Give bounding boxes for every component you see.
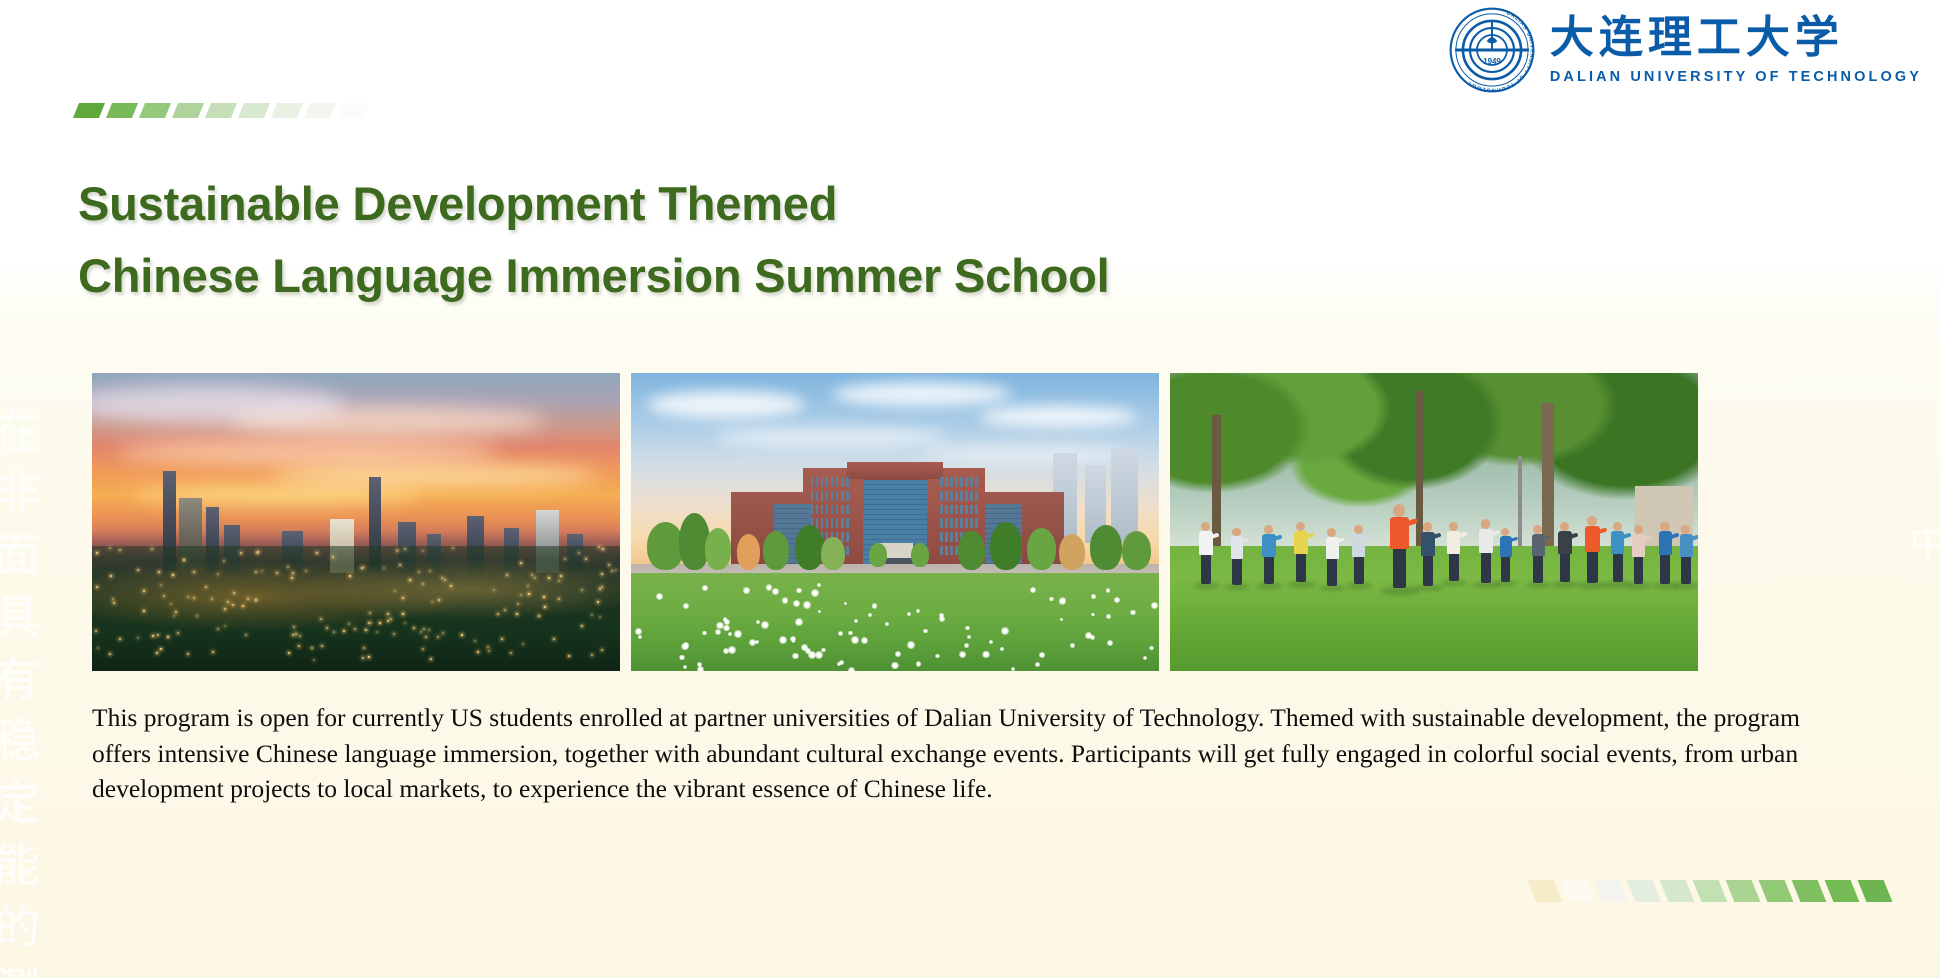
building-window	[955, 505, 958, 515]
city-light	[520, 562, 522, 564]
building-window	[811, 477, 814, 487]
dandelion	[982, 651, 990, 659]
head	[1587, 516, 1597, 526]
city-light	[333, 631, 335, 633]
building-window	[955, 532, 958, 542]
dandelion	[965, 626, 970, 631]
building-window	[945, 477, 948, 487]
shadow	[1346, 583, 1372, 589]
building-window	[816, 505, 819, 515]
building-window	[955, 491, 958, 501]
tree	[1059, 534, 1085, 570]
building-window	[836, 518, 839, 528]
city-light	[441, 577, 443, 579]
building-window	[970, 518, 973, 528]
svg-text:1949: 1949	[1483, 57, 1501, 66]
building-window	[965, 518, 968, 528]
dandelion	[861, 637, 868, 644]
city-light	[96, 586, 98, 588]
logo-name-en: DALIAN UNIVERSITY OF TECHNOLOGY	[1550, 69, 1922, 85]
building-window	[960, 505, 963, 515]
city-light	[450, 585, 452, 587]
building-window	[826, 518, 829, 528]
building-window	[960, 477, 963, 487]
city-light	[413, 627, 415, 629]
shadow	[1320, 585, 1346, 591]
city-light	[418, 571, 420, 573]
building-window	[816, 491, 819, 501]
legs	[1501, 556, 1510, 582]
dandelion	[989, 640, 993, 644]
city-light	[187, 653, 189, 655]
left-edge-watermark: 在非面具有稳定能的测	[0, 400, 64, 978]
tree	[705, 528, 731, 570]
city-light	[233, 592, 235, 594]
building-window	[975, 518, 978, 528]
dandelion	[967, 635, 971, 639]
photo-dut-campus-main-building	[631, 373, 1159, 671]
city-light	[137, 637, 139, 639]
building-window	[970, 477, 973, 487]
decor-parallelogram-bottom-10	[1858, 880, 1893, 902]
city-light	[240, 552, 242, 554]
city-light	[137, 569, 139, 571]
dandelion	[916, 661, 921, 666]
tree	[763, 531, 789, 570]
logo-name-cn: 大连理工大学	[1550, 15, 1844, 61]
tree	[1027, 528, 1056, 570]
tree	[1090, 525, 1122, 570]
dandelion	[839, 660, 844, 665]
head	[1634, 525, 1643, 534]
dandelion	[848, 667, 855, 671]
legs	[1660, 554, 1670, 583]
city-light	[396, 550, 398, 552]
building-window	[975, 491, 978, 501]
presentation-slide: 在非面具有稳定能的测 中 1949 DALIAN UNIVERSITY OF T…	[0, 0, 1940, 978]
city-light	[320, 618, 322, 620]
building-window	[841, 491, 844, 501]
dut-seal-icon: 1949 DALIAN UNIVERSITY OF TECHNOLOGY	[1448, 6, 1536, 94]
building-column	[850, 479, 863, 568]
legs	[1393, 548, 1407, 588]
city-light	[187, 596, 189, 598]
city-light	[365, 629, 367, 631]
city-light	[615, 569, 617, 571]
city-light	[170, 603, 172, 605]
dandelion	[907, 641, 915, 649]
building-window	[945, 505, 948, 515]
city-light	[520, 594, 522, 596]
building-window	[831, 505, 834, 515]
building-window	[821, 477, 824, 487]
photo-gallery	[92, 373, 1698, 671]
shadow	[1193, 583, 1221, 589]
legs	[1423, 555, 1433, 585]
decor-parallelogram-bottom-4	[1660, 880, 1695, 902]
student	[1529, 525, 1548, 587]
building-window	[841, 505, 844, 515]
city-light	[404, 548, 406, 550]
building-window	[955, 518, 958, 528]
decor-parallelogram-top-5	[238, 103, 270, 118]
page-title: Sustainable Development Themed Chinese L…	[78, 168, 1109, 312]
building-window	[965, 491, 968, 501]
dandelion	[895, 651, 900, 656]
decor-parallelogram-bottom-3	[1627, 880, 1662, 902]
photo-dalian-city-skyline-sunset	[92, 373, 620, 671]
cloud	[229, 406, 546, 436]
decor-parallelogram-top-6	[271, 103, 303, 118]
student	[1350, 525, 1369, 588]
decor-parallelogram-bottom-0	[1528, 880, 1563, 902]
dandelion	[795, 618, 803, 626]
city-light	[379, 622, 381, 624]
student	[1629, 525, 1648, 588]
building-window	[846, 491, 849, 501]
dandelion	[916, 609, 920, 613]
building-window	[811, 505, 814, 515]
shadow	[1673, 583, 1698, 589]
head	[1296, 522, 1305, 531]
student	[1608, 522, 1628, 587]
head	[1393, 504, 1406, 517]
building-window	[826, 505, 829, 515]
decor-parallelogram-bottom-6	[1726, 880, 1761, 902]
head	[1449, 522, 1458, 531]
city-light	[256, 552, 258, 554]
building-window	[836, 477, 839, 487]
building-window	[950, 532, 953, 542]
city-light	[504, 609, 506, 611]
building-window	[826, 491, 829, 501]
student	[1386, 504, 1414, 594]
dandelion	[1130, 610, 1135, 615]
building-window	[950, 491, 953, 501]
dandelion	[1091, 613, 1095, 617]
photo-students-taichi-on-lawn	[1170, 373, 1698, 671]
head	[1501, 528, 1509, 536]
tree	[869, 543, 887, 567]
city-light	[321, 645, 323, 647]
student	[1476, 519, 1497, 587]
dandelion	[734, 630, 742, 638]
right-edge-watermark: 中	[1910, 520, 1940, 568]
building-window	[940, 532, 943, 542]
head	[1232, 528, 1241, 537]
cloud	[979, 406, 1137, 427]
building-window	[821, 518, 824, 528]
city-light	[160, 584, 162, 586]
dandelion	[923, 629, 927, 633]
head	[1613, 522, 1622, 531]
city-light	[598, 546, 600, 548]
student	[1555, 522, 1575, 587]
building-window	[965, 505, 968, 515]
dandelion	[716, 622, 724, 630]
legs	[1232, 558, 1241, 585]
head	[1201, 522, 1210, 531]
city-light	[487, 646, 489, 648]
decor-parallelogram-top-1	[106, 103, 138, 118]
legs	[1681, 556, 1691, 584]
building-window	[970, 491, 973, 501]
tree	[958, 531, 984, 570]
dandelion	[715, 629, 721, 635]
dandelion	[1035, 662, 1040, 667]
city-light	[488, 650, 490, 652]
dandelion	[868, 613, 872, 617]
city-light	[157, 634, 159, 636]
decor-parallelogram-bottom-7	[1759, 880, 1794, 902]
dandelion	[803, 601, 811, 609]
building-window	[945, 518, 948, 528]
decor-parallelogram-bottom-1	[1561, 880, 1596, 902]
cloud	[118, 439, 498, 466]
building-window	[945, 491, 948, 501]
city-light	[158, 571, 160, 573]
dandelion	[817, 583, 821, 587]
cloud	[921, 445, 1132, 463]
city-light	[602, 548, 604, 550]
building-window	[940, 546, 943, 556]
city-light	[311, 647, 313, 649]
shadow	[1288, 581, 1315, 587]
building-window	[945, 546, 948, 556]
dandelion	[792, 653, 799, 660]
building-window	[940, 518, 943, 528]
city-light	[227, 601, 229, 603]
dandelion	[679, 655, 684, 660]
dandelion	[959, 651, 966, 658]
building-window	[821, 505, 824, 515]
student	[1656, 522, 1676, 588]
city-light	[276, 572, 278, 574]
dandelion	[1143, 656, 1147, 660]
city-light	[425, 636, 427, 638]
city-light	[261, 570, 263, 572]
decor-parallelogram-bottom-8	[1792, 880, 1827, 902]
tree	[1122, 531, 1151, 570]
shadow	[1256, 583, 1282, 589]
decor-parallelogram-bottom-5	[1693, 880, 1728, 902]
city-light	[109, 547, 111, 549]
legs	[1481, 552, 1491, 582]
head	[1660, 522, 1669, 531]
legs	[1587, 551, 1598, 583]
city-light	[516, 613, 518, 615]
building-window	[955, 477, 958, 487]
student	[1677, 525, 1696, 588]
legs	[1560, 554, 1570, 583]
city-light	[119, 638, 121, 640]
head	[1481, 519, 1491, 529]
shadow	[1441, 580, 1467, 586]
shadow	[1626, 583, 1652, 589]
dandelion	[1000, 647, 1004, 651]
city-light	[316, 552, 318, 554]
building-top-beam	[847, 462, 942, 480]
head	[1681, 525, 1690, 534]
city-light	[517, 603, 519, 605]
city-light	[143, 610, 145, 612]
dandelion	[723, 625, 729, 631]
university-logo: 1949 DALIAN UNIVERSITY OF TECHNOLOGY 大连理…	[1448, 6, 1922, 94]
building-window	[826, 477, 829, 487]
city-light	[399, 564, 401, 566]
building-window	[846, 505, 849, 515]
dandelion	[885, 622, 889, 626]
dandelion	[851, 636, 859, 644]
city-light	[368, 656, 370, 658]
city-light	[422, 648, 424, 650]
shadow	[1526, 582, 1552, 588]
tree	[795, 525, 824, 570]
building-window	[831, 518, 834, 528]
building-window	[816, 477, 819, 487]
dandelion	[796, 588, 802, 594]
city-light	[601, 586, 603, 588]
city-light	[564, 558, 566, 560]
student	[1228, 528, 1247, 589]
student	[1323, 528, 1342, 590]
dandelion	[756, 620, 760, 624]
building-window	[846, 518, 849, 528]
decor-parallelogram-bottom-9	[1825, 880, 1860, 902]
student	[1418, 522, 1439, 590]
decor-parallelogram-top-0	[73, 103, 105, 118]
tree	[737, 534, 761, 570]
building-window	[965, 477, 968, 487]
legs	[1201, 554, 1211, 583]
legs	[1634, 556, 1644, 584]
cloud	[647, 391, 805, 418]
city-light	[387, 613, 389, 615]
building-window	[821, 491, 824, 501]
building-window	[975, 477, 978, 487]
building-window	[970, 505, 973, 515]
dandelion	[935, 654, 939, 658]
city-light	[175, 611, 177, 613]
head	[1560, 522, 1569, 531]
building-window	[836, 505, 839, 515]
city-light	[163, 595, 165, 597]
dandelion	[761, 621, 769, 629]
building-window	[841, 477, 844, 487]
shadow	[1552, 581, 1579, 587]
shadow	[1494, 581, 1518, 587]
building-window	[811, 491, 814, 501]
top-decor-strip	[76, 103, 366, 118]
shadow	[1578, 582, 1608, 589]
city-light	[183, 559, 185, 561]
decor-parallelogram-top-7	[304, 103, 336, 118]
city-light	[497, 613, 499, 615]
legs	[1264, 556, 1274, 584]
legs	[1613, 554, 1623, 583]
logo-wordmark: 大连理工大学 DALIAN UNIVERSITY OF TECHNOLOGY	[1550, 15, 1922, 84]
dandelion	[1091, 594, 1095, 598]
city-light	[362, 657, 364, 659]
cloud	[832, 382, 1012, 406]
city-light	[298, 645, 300, 647]
dandelion	[1039, 652, 1045, 658]
student	[1196, 522, 1216, 588]
city-light	[95, 630, 97, 632]
building-window	[846, 546, 849, 556]
building-window	[940, 505, 943, 515]
dandelion	[635, 628, 642, 635]
city-light	[348, 623, 350, 625]
city-light	[97, 647, 99, 649]
dandelion	[811, 589, 819, 597]
decor-parallelogram-top-2	[139, 103, 171, 118]
head	[1327, 528, 1336, 537]
dandelion	[1070, 643, 1074, 647]
dandelion	[743, 587, 749, 593]
building-window	[940, 491, 943, 501]
legs	[1533, 555, 1542, 583]
building-window	[841, 518, 844, 528]
building-window	[950, 546, 953, 556]
city-light	[255, 571, 257, 573]
city-light	[292, 572, 294, 574]
city-light	[390, 618, 392, 620]
decor-parallelogram-top-3	[172, 103, 204, 118]
city-light	[442, 632, 444, 634]
city-light	[611, 570, 613, 572]
building-window	[960, 518, 963, 528]
city-light	[224, 625, 226, 627]
tree	[990, 522, 1022, 570]
legs	[1296, 554, 1306, 583]
head	[1354, 525, 1363, 534]
dandelion	[772, 588, 779, 595]
decor-parallelogram-top-8	[337, 103, 369, 118]
decor-parallelogram-bottom-2	[1594, 880, 1629, 902]
city-light	[599, 616, 601, 618]
city-light	[522, 643, 524, 645]
program-description: This program is open for currently US st…	[92, 700, 1852, 807]
shadow	[1225, 584, 1251, 590]
building-window	[831, 477, 834, 487]
dandelion	[964, 643, 969, 648]
shadow	[1381, 587, 1419, 596]
building-window	[940, 477, 943, 487]
building-window	[950, 505, 953, 515]
building-window	[846, 477, 849, 487]
building-window	[975, 505, 978, 515]
building-window	[960, 491, 963, 501]
city-light	[581, 625, 583, 627]
city-light	[548, 577, 550, 579]
head	[1533, 525, 1542, 534]
student	[1497, 528, 1515, 586]
building-window	[950, 518, 953, 528]
city-light	[313, 659, 315, 661]
lamp-post	[1518, 456, 1522, 557]
city-light	[110, 575, 112, 577]
dandelion	[702, 585, 708, 591]
city-light	[291, 577, 293, 579]
dandelion	[656, 593, 663, 600]
city-light	[326, 627, 328, 629]
building-window	[831, 491, 834, 501]
building-window	[950, 477, 953, 487]
building-window	[836, 491, 839, 501]
city-light	[112, 598, 114, 600]
building-window	[945, 532, 948, 542]
